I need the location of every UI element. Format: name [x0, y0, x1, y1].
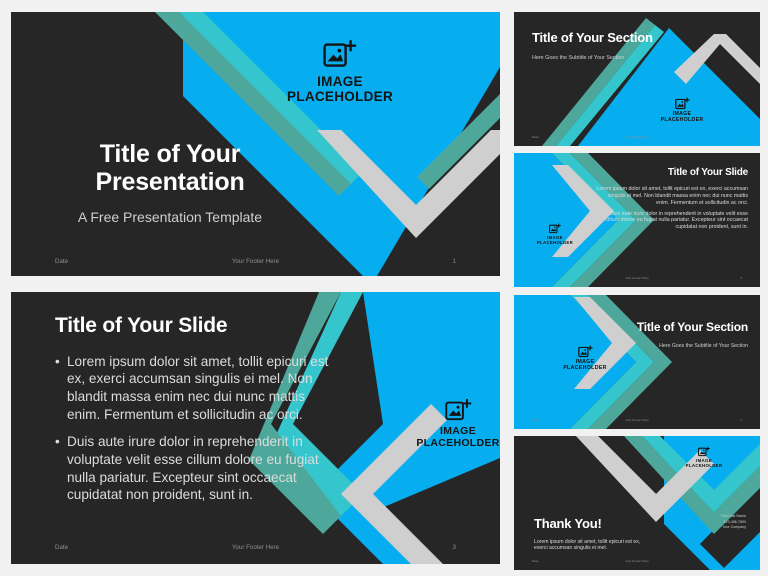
slide-2-placeholder-label: IMAGE PLACEHOLDER	[639, 112, 725, 124]
slide-6-footer-center: Your Footer Here	[514, 559, 760, 563]
slide-3-placeholder-label: IMAGE PLACEHOLDER	[524, 236, 586, 246]
add-image-icon	[549, 223, 561, 234]
slide-2-footer-center: Your Footer Here	[514, 135, 760, 139]
slide-1-placeholder-label: IMAGE PLACEHOLDER	[265, 74, 415, 104]
slide-6-footer: Date Your Footer Here 1	[514, 559, 760, 565]
slide-3-body: Lorem ipsum dolor sit amet, tollit epicu…	[596, 186, 748, 231]
slide-3-footer-center: Your Footer Here	[514, 276, 760, 280]
contact-company: Your Company	[686, 525, 746, 531]
slide-4-bullet-2: Duis aute irure dolor in reprehenderit i…	[55, 433, 335, 504]
slide-2-subtitle: Here Goes the Subtitle of Your Section	[532, 55, 662, 62]
slide-4-footer-page: 3	[453, 544, 456, 551]
slide-1-text-block: Title of Your Presentation A Free Presen…	[55, 140, 285, 227]
slide-5-text-block: Title of Your Section Here Goes the Subt…	[628, 321, 748, 350]
slide-3-paragraph-2: Duis aute irure dolor in reprehenderit i…	[596, 211, 748, 232]
slide-3-title: Title of Your Slide	[596, 167, 748, 178]
slide-deck-preview: Title of Your Presentation A Free Presen…	[0, 0, 768, 576]
slide-1-footer: Date Your Footer Here 1	[11, 258, 500, 268]
slide-2-image-placeholder[interactable]: IMAGE PLACEHOLDER	[639, 97, 725, 124]
slide-3-footer-page: 3	[740, 276, 742, 280]
slide-4-placeholder-label: IMAGE PLACEHOLDER	[403, 426, 500, 450]
slide-6-title: Thank You!	[534, 517, 654, 532]
slide-1-subtitle: A Free Presentation Template	[55, 209, 285, 227]
slide-6-footer-page: 1	[740, 559, 742, 563]
slide-6-image-placeholder[interactable]: IMAGE PLACEHOLDER	[674, 446, 734, 469]
slide-4-text-block: Title of Your Slide Lorem ipsum dolor si…	[55, 314, 335, 504]
slide-title-slide[interactable]: Title of Your Presentation A Free Presen…	[11, 12, 500, 276]
add-image-icon	[698, 446, 710, 457]
add-image-icon	[323, 39, 357, 69]
add-image-icon	[675, 97, 690, 110]
slide-6-body: Lorem ipsum dolor sit amet, tollit epicu…	[534, 539, 654, 552]
slide-6-text-block: Thank You! Lorem ipsum dolor sit amet, t…	[534, 517, 654, 552]
slide-1-footer-page: 1	[453, 258, 456, 265]
slide-4-title: Title of Your Slide	[55, 314, 335, 338]
slide-section-slide-reversed[interactable]: Title of Your Section Here Goes the Subt…	[514, 295, 760, 429]
slide-4-image-placeholder[interactable]: IMAGE PLACEHOLDER	[403, 398, 500, 450]
slide-5-footer-center: Your Footer Here	[514, 418, 760, 422]
add-image-icon	[578, 345, 593, 358]
slide-5-title: Title of Your Section	[628, 321, 748, 334]
add-image-icon	[445, 398, 472, 422]
slide-5-footer: Date Your Footer Here 1	[514, 418, 760, 424]
slide-6-placeholder-label: IMAGE PLACEHOLDER	[674, 459, 734, 469]
slide-6-paragraph: Lorem ipsum dolor sit amet, tollit epicu…	[534, 539, 654, 552]
slide-content-slide-large[interactable]: Title of Your Slide Lorem ipsum dolor si…	[11, 292, 500, 564]
slide-2-text-block: Title of Your Section Here Goes the Subt…	[532, 31, 662, 61]
slide-3-footer: Your Footer Here 3	[514, 276, 760, 282]
slide-2-footer: Date Your Footer Here 1	[514, 135, 760, 141]
slide-3-text-block: Title of Your Slide Lorem ipsum dolor si…	[596, 167, 748, 231]
slide-1-title: Title of Your Presentation	[55, 140, 285, 196]
slide-3-paragraph-1: Lorem ipsum dolor sit amet, tollit epicu…	[596, 186, 748, 207]
slide-5-placeholder-label: IMAGE PLACEHOLDER	[542, 360, 628, 372]
slide-content-slide-right[interactable]: Title of Your Slide Lorem ipsum dolor si…	[514, 153, 760, 287]
slide-4-bullet-list: Lorem ipsum dolor sit amet, tollit epicu…	[55, 353, 335, 505]
slide-3-image-placeholder[interactable]: IMAGE PLACEHOLDER	[524, 223, 586, 246]
slide-thank-you-slide[interactable]: Thank You! Lorem ipsum dolor sit amet, t…	[514, 436, 760, 570]
slide-2-title: Title of Your Section	[532, 31, 662, 46]
slide-5-subtitle: Here Goes the Subtitle of Your Section	[628, 343, 748, 350]
slide-1-image-placeholder[interactable]: IMAGE PLACEHOLDER	[265, 39, 415, 104]
slide-5-image-placeholder[interactable]: IMAGE PLACEHOLDER	[542, 345, 628, 372]
slide-section-slide[interactable]: Title of Your Section Here Goes the Subt…	[514, 12, 760, 146]
slide-4-footer-center: Your Footer Here	[11, 544, 500, 551]
slide-6-contact-block: First Last Name 123-456-7890 Your Compan…	[686, 514, 746, 531]
slide-4-bullet-1: Lorem ipsum dolor sit amet, tollit epicu…	[55, 353, 335, 424]
slide-5-footer-page: 1	[740, 418, 742, 422]
slide-1-footer-center: Your Footer Here	[11, 258, 500, 265]
slide-2-footer-page: 1	[740, 135, 742, 139]
slide-4-footer: Date Your Footer Here 3	[11, 544, 500, 554]
